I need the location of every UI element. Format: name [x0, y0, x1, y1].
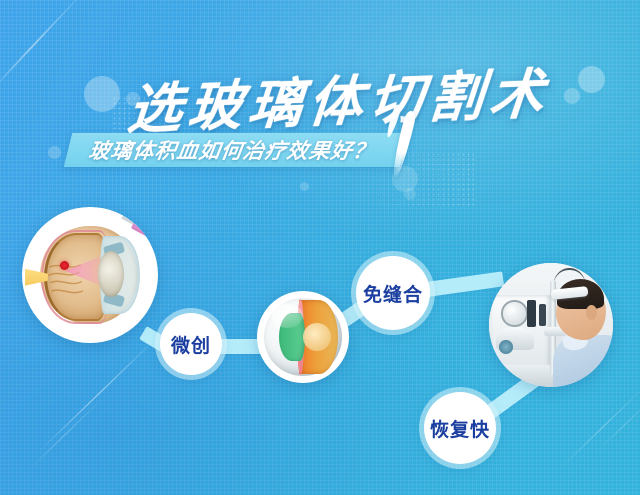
eyeball-lens-shape	[303, 323, 331, 351]
label-node-huifukuai[interactable]: 恢复快	[424, 392, 496, 464]
eyeball-gloss-highlight	[272, 304, 303, 328]
eye-cutaway-illustration	[257, 291, 349, 383]
machine-column-shape	[527, 300, 536, 327]
syringe-needle-icon	[119, 212, 156, 239]
label-node-weichuang[interactable]: 微创	[160, 313, 222, 375]
label-text-huifukuai: 恢复快	[430, 415, 490, 442]
node-patient-exam-photo[interactable]	[489, 263, 613, 387]
label-text-miaofenghe: 免缝合	[363, 280, 423, 307]
machine-knob-icon	[499, 340, 513, 354]
process-flow-diagram: 微创 免缝合 恢复快	[0, 0, 640, 495]
machine-dial-icon	[501, 300, 527, 326]
label-text-weichuang: 微创	[171, 331, 211, 358]
machine-base-shape	[489, 365, 557, 387]
eye-anatomy-illustration	[22, 207, 158, 343]
node-eye-anatomy[interactable]	[22, 207, 158, 343]
patient-exam-photo-illustration	[489, 263, 613, 387]
syringe-barrel-shape	[131, 218, 156, 239]
machine-column-shape	[539, 304, 546, 326]
patient-ear-shape	[586, 305, 597, 320]
node-eye-cutaway[interactable]	[257, 291, 349, 383]
crystalline-lens-shape	[98, 251, 124, 297]
label-node-miaofenghe[interactable]: 免缝合	[356, 256, 430, 330]
promo-banner: 选玻璃体切割术 玻璃体积血如何治疗效果好？	[0, 0, 640, 495]
